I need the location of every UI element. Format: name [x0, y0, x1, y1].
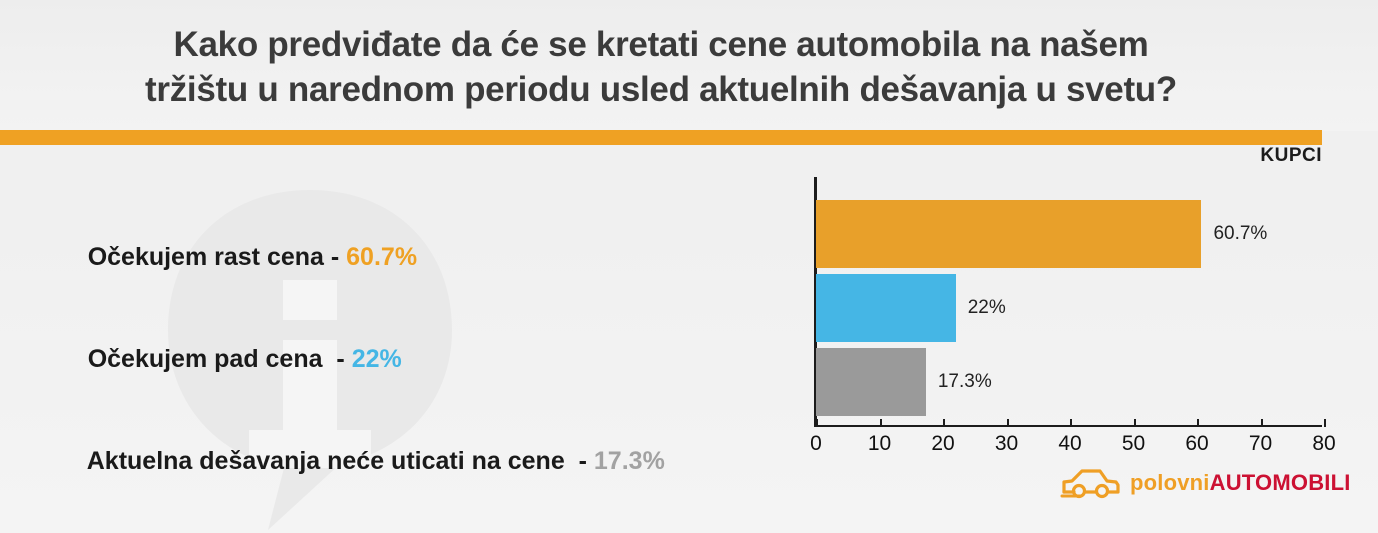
chart-axis-tick [1324, 419, 1326, 427]
legend-label-rast: Očekujem rast cena - [88, 243, 346, 271]
chart-axis-tick [816, 419, 818, 427]
header-divider [0, 130, 1322, 145]
legend-label-pad: Očekujem pad cena - [88, 345, 352, 373]
chart-bar[interactable] [816, 348, 926, 416]
car-icon [1060, 466, 1122, 500]
chart-axis-tick [1134, 419, 1136, 427]
chart-axis-tick-label: 80 [1312, 432, 1335, 456]
header: Kako predviđate da će se kretati cene au… [0, 0, 1378, 131]
legend-label-bez-uticaja: Aktuelna dešavanja neće uticati na cene … [87, 447, 594, 475]
chart-series-label: KUPCI [1260, 145, 1322, 167]
logo-text-polovni: polovni [1130, 470, 1210, 495]
legend-value-rast: 60.7% [346, 243, 417, 271]
chart-axis-tick-label: 40 [1058, 432, 1081, 456]
infographic-page: Kako predviđate da će se kretati cene au… [0, 0, 1378, 533]
chart-axis-tick [880, 419, 882, 427]
chart-axis-tick-label: 0 [810, 432, 822, 456]
chart-bar-value-label: 60.7% [1213, 223, 1267, 245]
chart-axis-tick [1007, 419, 1009, 427]
chart-axis-tick-label: 20 [931, 432, 954, 456]
page-title: Kako predviđate da će se kretati cene au… [0, 22, 1322, 112]
bar-chart: 60.7%22%17.3% 01020304050607080 [805, 170, 1335, 455]
chart-axis-tick-label: 70 [1249, 432, 1272, 456]
legend-list: Očekujem rast cena - 60.7% Očekujem pad … [46, 218, 665, 500]
chart-axis-tick-label: 50 [1122, 432, 1145, 456]
legend-item-bez-uticaja: Aktuelna dešavanja neće uticati na cene … [46, 422, 665, 500]
legend-item-rast: Očekujem rast cena - 60.7% [46, 218, 665, 296]
chart-axis-tick-label: 30 [995, 432, 1018, 456]
logo-wordmark: polovniAUTOMOBILI [1130, 470, 1351, 496]
logo-text-automobili: AUTOMOBILI [1210, 470, 1351, 495]
chart-axis-tick-label: 10 [868, 432, 891, 456]
chart-bar[interactable] [816, 200, 1201, 268]
chart-bar-value-label: 17.3% [938, 371, 992, 393]
chart-bar[interactable] [816, 274, 956, 342]
legend-item-pad: Očekujem pad cena - 22% [46, 320, 665, 398]
chart-axis-tick [1261, 419, 1263, 427]
chart-x-axis [814, 425, 1322, 427]
brand-logo[interactable]: polovniAUTOMOBILI [1060, 466, 1351, 500]
chart-axis-tick-label: 60 [1185, 432, 1208, 456]
chart-axis-tick [1197, 419, 1199, 427]
title-line-2: tržištu u narednom periodu usled aktueln… [0, 67, 1322, 112]
chart-bar-value-label: 22% [968, 297, 1006, 319]
title-line-1: Kako predviđate da će se kretati cene au… [0, 22, 1322, 67]
legend-value-pad: 22% [352, 345, 402, 373]
chart-axis-tick [1070, 419, 1072, 427]
chart-axis-tick [943, 419, 945, 427]
legend-value-bez-uticaja: 17.3% [594, 447, 665, 475]
